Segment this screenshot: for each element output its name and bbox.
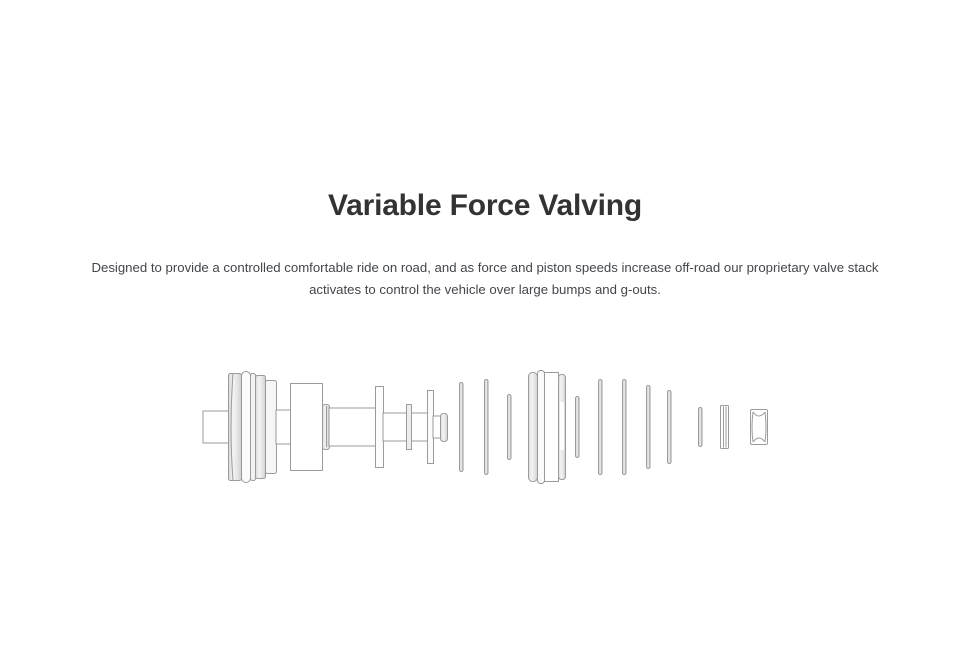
part-rod-extension [383, 413, 428, 441]
part-shim-1 [460, 383, 464, 472]
part-mid-shaft [276, 410, 291, 444]
part-rod-tip [433, 416, 441, 438]
part-shim-4 [576, 397, 580, 458]
part-spacer-ring [721, 406, 729, 449]
part-shim-6 [623, 380, 627, 475]
part-piston-rod [329, 408, 376, 446]
page-root: Variable Force Valving Designed to provi… [0, 0, 970, 647]
part-piston-head [529, 371, 566, 484]
part-lock-nut [751, 410, 768, 445]
part-shim-3 [508, 395, 512, 460]
part-shoulder-washer [323, 405, 330, 450]
exploded-valve-stack-diagram [0, 340, 970, 530]
part-shim-2 [485, 380, 489, 475]
part-spacer-washer [407, 405, 412, 450]
part-piston-flange [376, 387, 384, 468]
diagram-svg [0, 340, 970, 530]
part-nut-cap [441, 414, 448, 442]
part-shim-8 [668, 391, 672, 464]
part-shim-7 [647, 386, 651, 469]
part-shim-9 [699, 408, 703, 447]
part-valve-body-block [291, 384, 323, 471]
part-bellows-ring-stack [229, 372, 277, 483]
part-shim-5 [599, 380, 603, 475]
page-title: Variable Force Valving [0, 186, 970, 226]
section-description: Designed to provide a controlled comfort… [71, 257, 899, 301]
